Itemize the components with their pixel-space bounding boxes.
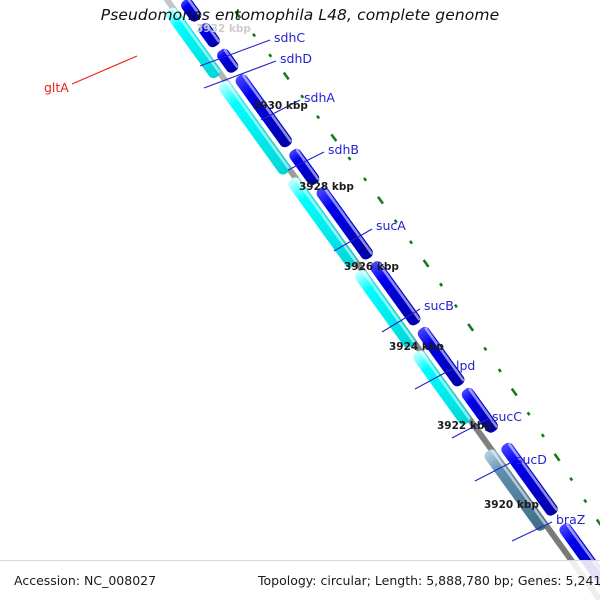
ruler-3926: 3926 kbp: [344, 261, 399, 273]
feature-tick-mark: [317, 116, 319, 119]
feature-tick-mark: [301, 95, 303, 98]
feature-tick-mark: [331, 134, 336, 141]
feature-tick-mark: [528, 412, 530, 415]
feature-tick-mark: [378, 197, 383, 204]
gene-label-braZ[interactable]: braZ: [556, 512, 585, 527]
gene-label-gltA[interactable]: gltA: [44, 80, 69, 95]
ruler-3924: 3924 kbp: [389, 341, 444, 353]
feature-tick-mark: [542, 434, 544, 437]
ruler-3930: 3930 kbp: [253, 100, 308, 112]
gene-label-sdhB[interactable]: sdhB: [328, 142, 359, 157]
feature-tick-mark: [440, 283, 442, 286]
feature-tick-mark: [349, 157, 351, 160]
feature-tick-mark: [410, 241, 412, 244]
gene-label-sdhA[interactable]: sdhA: [304, 90, 335, 105]
gene-label-sucC[interactable]: sucC: [492, 409, 522, 424]
feature-tick-mark: [284, 73, 289, 80]
gene-label-sdhD[interactable]: sdhD: [280, 51, 312, 66]
ruler-3928: 3928 kbp: [299, 181, 354, 193]
gene-label-lpd[interactable]: lpd: [456, 358, 475, 373]
genome-summary-text: Topology: circular; Length: 5,888,780 bp…: [258, 573, 600, 588]
status-bar: Accession: NC_008027 Topology: circular;…: [0, 560, 600, 600]
feature-tick-mark: [512, 389, 517, 396]
leader-line-braZ: [512, 522, 552, 541]
ruler-3922: 3922 kbp: [437, 420, 492, 432]
ruler-3932: 3932 kbp: [196, 23, 251, 35]
feature-tick-mark: [455, 305, 457, 308]
genome-viewer[interactable]: Pseudomonas entomophila L48, complete ge…: [0, 0, 600, 600]
gene-label-sucA[interactable]: sucA: [376, 218, 406, 233]
accession-text: Accession: NC_008027: [14, 573, 156, 588]
feature-tick-mark: [499, 369, 501, 372]
feature-tick-mark: [584, 500, 586, 503]
feature-tick-mark: [555, 454, 560, 461]
feature-tick-mark: [484, 348, 486, 351]
feature-tick-mark: [269, 54, 271, 57]
label-leader-line-layer: [72, 40, 552, 541]
feature-tick-mark: [468, 324, 473, 331]
forward-strand-gene-layer[interactable]: [90, 0, 549, 533]
ruler-3920: 3920 kbp: [484, 499, 539, 511]
feature-tick-mark: [364, 178, 366, 181]
gene-label-sucD[interactable]: sucD: [516, 452, 547, 467]
gene-label-sdhC[interactable]: sdhC: [274, 30, 305, 45]
feature-tick-mark: [235, 11, 240, 18]
feature-tick-mark: [253, 34, 255, 37]
gene-label-sucB[interactable]: sucB: [424, 298, 454, 313]
feature-tick-mark: [424, 260, 429, 267]
feature-tick-mark: [570, 478, 572, 481]
leader-line-gltA: [72, 56, 137, 84]
